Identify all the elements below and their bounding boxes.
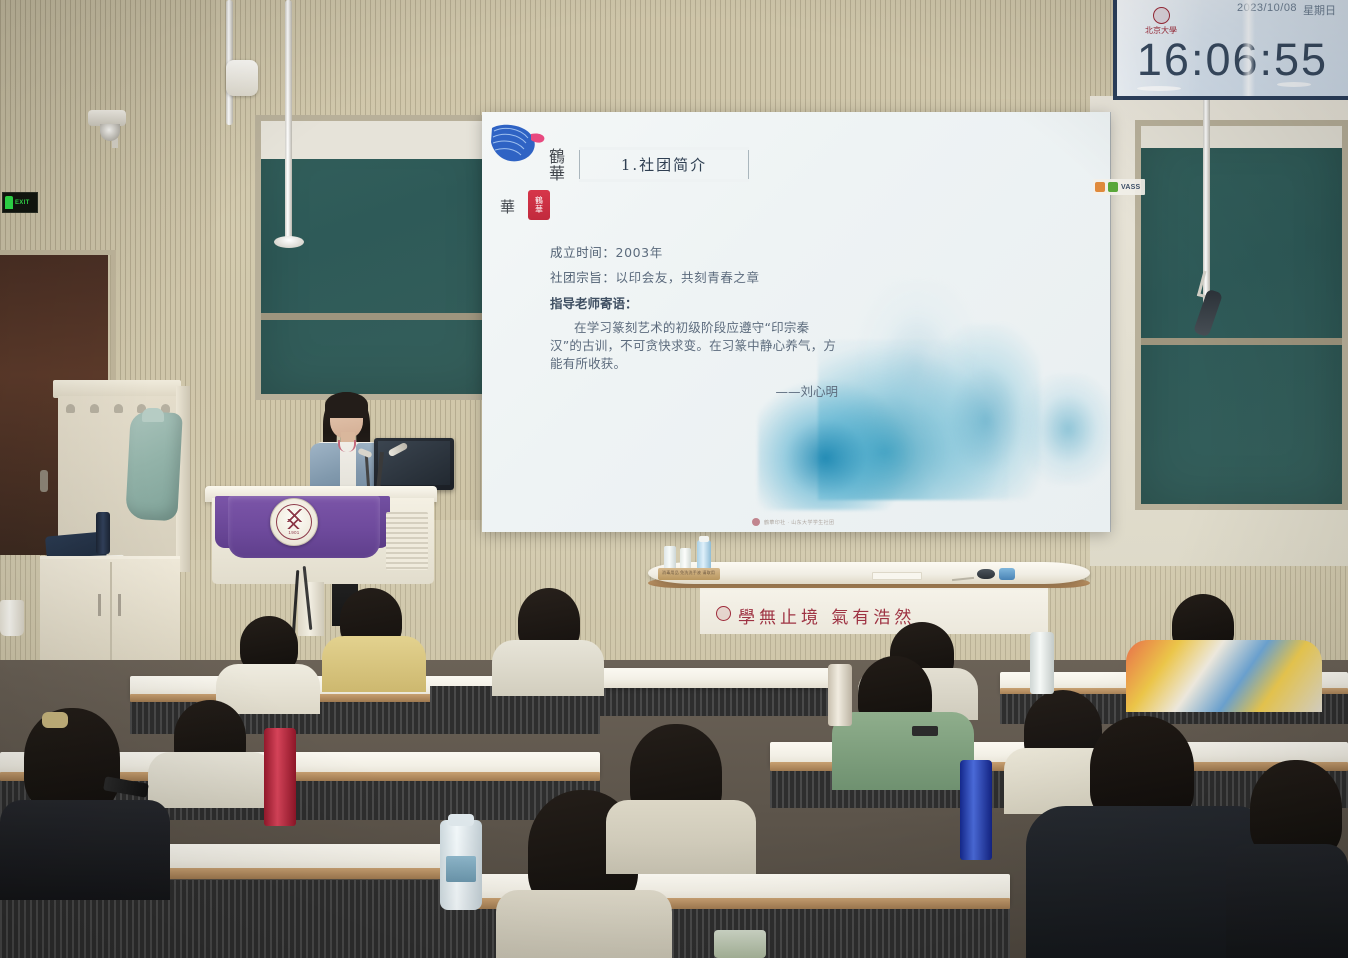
- small-bottle-b: [680, 548, 691, 569]
- presenter-hair-top: [325, 392, 368, 418]
- slide-teacher-message: 在学习篆刻艺术的初级阶段应遵守“印宗秦汉”的古训，不可贪快求变。在习篆中静心养气…: [550, 319, 840, 373]
- slide-title: 1.社团简介: [615, 154, 713, 175]
- student-body: [606, 800, 756, 874]
- chalkboard-right: [1135, 120, 1348, 510]
- exit-sign-label: EXIT: [15, 200, 30, 206]
- desk-dark-cup: [977, 569, 995, 579]
- red-seal-stamp-icon: 鶴華: [528, 190, 550, 220]
- wifi-access-point-icon: [226, 60, 258, 96]
- coat-collar: [142, 408, 164, 422]
- desk-paper: [872, 572, 922, 580]
- beige-thermos: [828, 664, 852, 726]
- running-man-icon: [5, 196, 13, 209]
- emblem-inner-ring: 1901: [276, 504, 312, 540]
- presentation-slide: 鶴華 鶴華 華 1.社团简介 成立时间：2003年 社团宗旨：以印会友，共刻青春…: [482, 112, 1110, 532]
- red-thermos: [264, 728, 296, 826]
- hoodie-brand-patch: [912, 726, 938, 736]
- cabinet-handle-right[interactable]: [118, 594, 121, 616]
- clock-time: 16:06:55: [1117, 34, 1348, 86]
- podium-vent: [386, 512, 428, 570]
- slide-line-founded: 成立时间：2003年: [550, 240, 880, 265]
- ceiling-microphone-left: [274, 236, 304, 248]
- green-app-icon[interactable]: [1108, 182, 1118, 192]
- orange-app-icon[interactable]: [1095, 182, 1105, 192]
- slide-teacher-heading: 指导老师寄语：: [550, 290, 880, 317]
- water-bottle-label: [446, 856, 476, 882]
- cabinet-handle-left[interactable]: [98, 594, 101, 616]
- front-desk-seal-icon: [716, 606, 731, 621]
- club-calligraphy-secondary: 華: [500, 196, 515, 217]
- slide-footer-text: 鶴華印社 · 山东大学学生社团: [764, 519, 834, 526]
- hair-tie: [42, 712, 68, 728]
- hand-sanitizer-cap: [699, 536, 709, 542]
- exit-sign: EXIT: [2, 192, 38, 213]
- bench-row1b-desktop: [596, 668, 850, 688]
- small-bottle-a: [664, 546, 676, 569]
- slide-footer: 鶴華印社 · 山东大学学生社团: [752, 517, 912, 527]
- university-seal-icon: [1153, 7, 1170, 24]
- slide-line-founded-value: 2003年: [616, 245, 663, 260]
- student-dark-shirt-body: [0, 800, 170, 900]
- cabinet-thermos: [96, 512, 110, 554]
- clock-vertical-glare: [1242, 0, 1255, 100]
- water-bottle-cap: [448, 814, 474, 826]
- chalkboard-left-header: [261, 121, 494, 159]
- clock-weekday: 星期日: [1303, 2, 1336, 18]
- chalkboard-left-rail: [261, 313, 494, 320]
- paper-cup: [0, 600, 24, 636]
- ink-wash-mountain-right: [1022, 374, 1110, 484]
- supply-tray-label: 消毒用品 免洗洗手液 请取用: [662, 570, 715, 576]
- desk-item-green: [714, 930, 766, 958]
- blue-thermos: [960, 760, 992, 860]
- student-green-hoodie-body: [832, 712, 974, 790]
- projection-screen: 鶴華 鶴華 華 1.社团简介 成立时间：2003年 社团宗旨：以印会友，共刻青春…: [482, 112, 1110, 532]
- slide-title-box: 1.社团简介: [579, 148, 749, 181]
- slide-line-purpose-key: 社团宗旨：: [550, 270, 616, 285]
- footer-seal-icon: [752, 518, 760, 526]
- vass-label: VASS: [1121, 184, 1140, 191]
- student-yellow-jacket-body: [322, 636, 426, 692]
- student-head-glasses: [24, 708, 120, 812]
- chalkboard-right-header: [1141, 126, 1342, 148]
- chalkboard-right-rail: [1141, 338, 1342, 345]
- student-colorful-jacket-body: [1126, 640, 1322, 712]
- student-body: [496, 890, 672, 958]
- door-handle[interactable]: [40, 470, 48, 492]
- clock-display-panel: 北京大學 2023/10/08 星期日 16:06:55: [1113, 0, 1348, 100]
- desk-blue-cup: [999, 568, 1015, 580]
- hand-sanitizer-bottle: [697, 540, 711, 569]
- student-light-sweater-body: [492, 640, 604, 696]
- emblem-year: 1901: [288, 530, 299, 535]
- lecture-hall-scene: EXIT 北京大學 2023/10/08 星期日 16:06:55: [0, 0, 1348, 958]
- coat-hook-icon[interactable]: [90, 404, 99, 413]
- coat-hook-icon[interactable]: [66, 404, 75, 413]
- emblem-mountain-icon-lower: [279, 519, 309, 529]
- coat-hook-icon[interactable]: [114, 404, 123, 413]
- ceiling-pole-center: [285, 0, 292, 240]
- hanging-coat: [125, 411, 183, 522]
- front-desk-banner: 學無止境 氣有浩然: [738, 603, 915, 628]
- student-body: [1226, 844, 1348, 958]
- slide-line-founded-key: 成立时间：: [550, 245, 616, 260]
- slide-line-purpose: 社团宗旨：以印会友，共刻青春之章: [550, 265, 880, 290]
- slide-body: 成立时间：2003年 社团宗旨：以印会友，共刻青春之章 指导老师寄语： 在学习篆…: [550, 240, 880, 400]
- clear-thermos: [1030, 632, 1054, 694]
- slide-signature: ——刘心明: [550, 381, 838, 400]
- podium-monitor-screen: [378, 441, 450, 485]
- university-emblem: 1901: [270, 498, 318, 546]
- vass-taskbar-badge[interactable]: VASS: [1093, 179, 1145, 195]
- slide-line-purpose-value: 以印会友，共刻青春之章: [616, 270, 760, 285]
- clock-reflection-right: [1277, 82, 1311, 87]
- clock-reflection-left: [1137, 86, 1181, 91]
- student-body: [148, 752, 274, 808]
- cabinet-door-seam: [110, 562, 112, 662]
- club-logo: 鶴華 鶴華 華: [488, 120, 574, 236]
